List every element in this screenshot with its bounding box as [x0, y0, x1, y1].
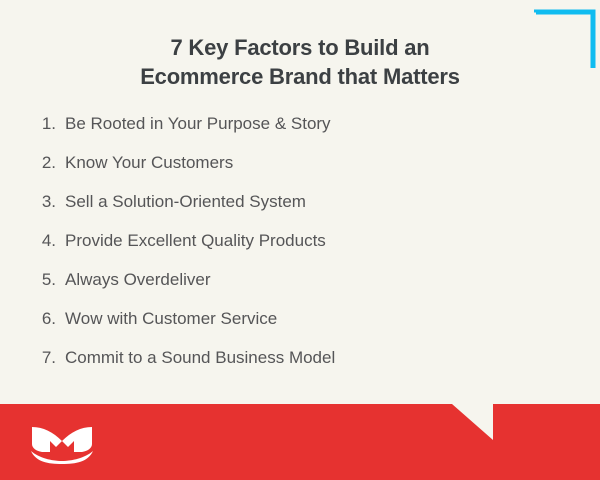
list-item-number: 2. — [30, 152, 56, 174]
list-item-label: Always Overdeliver — [65, 269, 211, 291]
list-item-number: 5. — [30, 269, 56, 291]
list-item-number: 7. — [30, 347, 56, 369]
list-item-number: 1. — [30, 113, 56, 135]
key-factors-list: 1. Be Rooted in Your Purpose & Story 2. … — [30, 113, 570, 386]
list-item-label: Wow with Customer Service — [65, 308, 277, 330]
slide-canvas: 7 Key Factors to Build an Ecommerce Bran… — [0, 0, 600, 480]
list-item-number: 3. — [30, 191, 56, 213]
list-item-number: 4. — [30, 230, 56, 252]
list-item-label: Provide Excellent Quality Products — [65, 230, 326, 252]
list-item-label: Be Rooted in Your Purpose & Story — [65, 113, 331, 135]
page-title: 7 Key Factors to Build an Ecommerce Bran… — [0, 33, 600, 91]
list-item: 6. Wow with Customer Service — [30, 308, 570, 347]
list-item-label: Know Your Customers — [65, 152, 233, 174]
list-item-label: Commit to a Sound Business Model — [65, 347, 335, 369]
list-item-number: 6. — [30, 308, 56, 330]
title-line-2: Ecommerce Brand that Matters — [0, 62, 600, 91]
list-item: 3. Sell a Solution-Oriented System — [30, 191, 570, 230]
list-item: 7. Commit to a Sound Business Model — [30, 347, 570, 386]
list-item: 5. Always Overdeliver — [30, 269, 570, 308]
list-item: 4. Provide Excellent Quality Products — [30, 230, 570, 269]
list-item: 2. Know Your Customers — [30, 152, 570, 191]
list-item: 1. Be Rooted in Your Purpose & Story — [30, 113, 570, 152]
list-item-label: Sell a Solution-Oriented System — [65, 191, 306, 213]
brand-logo-icon — [30, 424, 94, 464]
title-line-1: 7 Key Factors to Build an — [0, 33, 600, 62]
